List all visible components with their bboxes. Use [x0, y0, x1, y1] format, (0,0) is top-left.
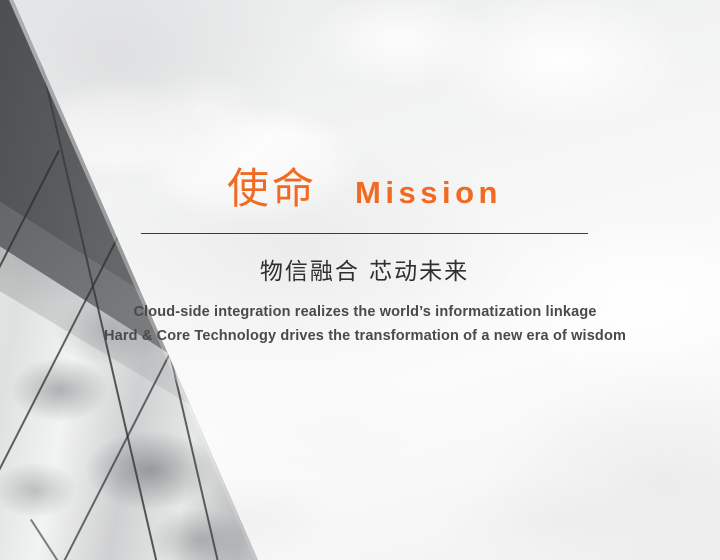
banner-title: 使命 Mission	[141, 168, 588, 210]
body-line-1: Cloud-side integration realizes the worl…	[60, 300, 670, 324]
banner-content: 使命 Mission 物信融合 芯动未来 Cloud-side integrat…	[0, 0, 720, 560]
title-divider	[141, 233, 588, 234]
mission-banner: 使命 Mission 物信融合 芯动未来 Cloud-side integrat…	[0, 0, 720, 560]
body-line-2: Hard & Core Technology drives the transf…	[60, 324, 670, 348]
title-chinese: 使命	[227, 168, 317, 210]
title-english: Mission	[355, 177, 502, 208]
banner-subtitle: 物信融合 芯动未来	[141, 258, 588, 288]
banner-body-text: Cloud-side integration realizes the worl…	[60, 300, 670, 348]
